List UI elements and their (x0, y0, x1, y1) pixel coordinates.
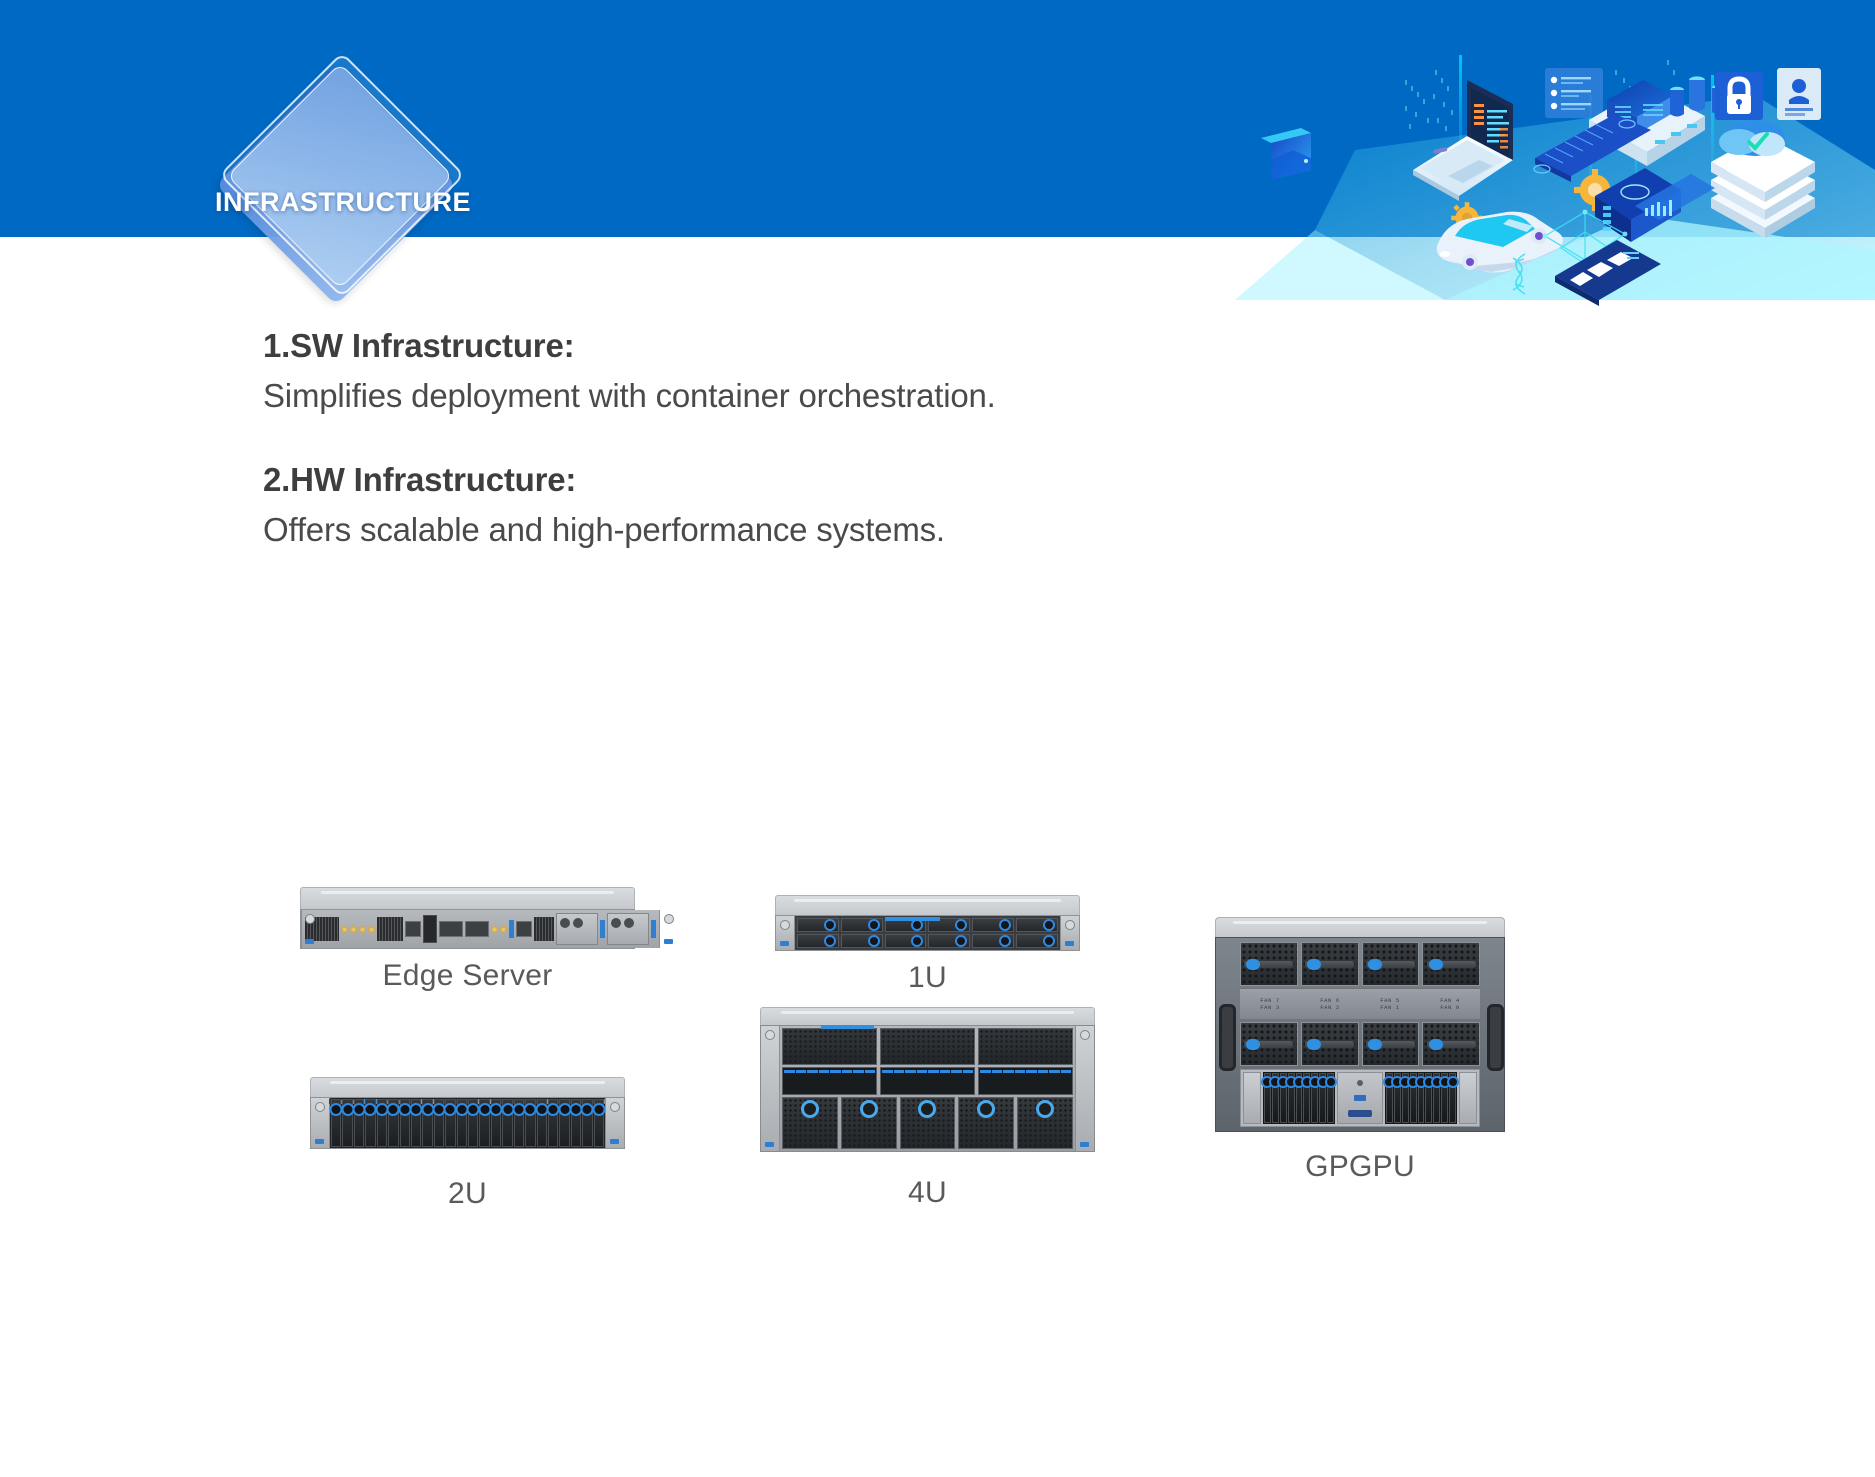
fan-vane (1305, 1041, 1354, 1048)
fan-vane (1366, 961, 1415, 968)
handle-column-right (1484, 938, 1504, 1131)
airflow-mesh-panel (782, 1028, 877, 1065)
drive-latch-icon (1043, 919, 1055, 931)
rack-ear-right (1060, 916, 1079, 950)
io-module (423, 915, 437, 943)
rack-ear-right (1075, 1026, 1094, 1151)
caption-4u: 4U (760, 1176, 1095, 1210)
drive-bay[interactable] (514, 1099, 524, 1147)
gpu-card (992, 1070, 1003, 1073)
drive-bay[interactable] (411, 1099, 421, 1147)
badge-label: INFRASTRUCTURE (160, 187, 526, 218)
gpu-card (928, 1070, 939, 1073)
power-led-icon (1357, 1080, 1363, 1086)
chassis-front-face (310, 1097, 625, 1149)
chassis-front-face (300, 909, 635, 949)
fan-module[interactable] (1362, 942, 1420, 986)
drive-bay[interactable] (342, 1099, 352, 1147)
drive-bay[interactable] (365, 1099, 375, 1147)
drive-latch-icon (1043, 935, 1055, 947)
chassis-handle[interactable] (1219, 1004, 1236, 1072)
drive-bay[interactable] (559, 1099, 569, 1147)
rack-ear-left (776, 916, 795, 950)
bar-chart-tablet (1555, 240, 1661, 306)
gpu-card (865, 1070, 876, 1073)
gpu-card (951, 1070, 962, 1073)
dna-helix (1513, 254, 1525, 294)
gpu-card (819, 1070, 830, 1073)
gpu-module[interactable] (978, 1067, 1073, 1095)
caption-gpgpu: GPGPU (1215, 1150, 1505, 1184)
conveyor-belt (1534, 114, 1651, 182)
fan-label: FAN 3 (1240, 1004, 1300, 1011)
fan-module[interactable] (1301, 942, 1359, 986)
fan-label: FAN 1 (1360, 1004, 1420, 1011)
gpu-card (963, 1070, 974, 1073)
drive-bay[interactable] (972, 918, 1014, 932)
nvme-bank-left (1263, 1072, 1335, 1124)
drive-bay[interactable] (445, 1099, 455, 1147)
drive-latch-icon (911, 935, 923, 947)
usb-port[interactable] (1354, 1095, 1366, 1101)
vent-grille (534, 917, 554, 941)
edge-server-chassis (300, 887, 635, 949)
mesh-panel-row (782, 1028, 1073, 1065)
gpu-card (1003, 1070, 1014, 1073)
gpu-card (894, 1070, 905, 1073)
fan-module-row (782, 1097, 1073, 1149)
gpu-card (1038, 1070, 1049, 1073)
bay-filler-right (1459, 1072, 1477, 1124)
drive-bay[interactable] (582, 1099, 592, 1147)
psu-latch[interactable] (600, 920, 605, 938)
light-beams (1459, 55, 1714, 215)
fan-vane (1427, 961, 1476, 968)
checklist-card (1545, 68, 1603, 118)
drive-bay[interactable] (457, 1099, 467, 1147)
antenna-connector (350, 926, 357, 933)
gpu-module[interactable] (782, 1067, 877, 1095)
drive-latch-icon (999, 935, 1011, 947)
gpu-module[interactable] (880, 1067, 975, 1095)
gpu-card (882, 1070, 893, 1073)
fan-label: FAN 5 (1360, 997, 1420, 1004)
network-graph (1543, 210, 1628, 267)
gpu-card (917, 1070, 928, 1073)
drive-latch-icon (868, 919, 880, 931)
fan-label: FAN 0 (1420, 1004, 1480, 1011)
vga-port[interactable] (1348, 1110, 1372, 1117)
drive-bay[interactable] (797, 934, 839, 948)
drive-latch-icon (955, 935, 967, 947)
airflow-mesh-panel (880, 1028, 975, 1065)
antenna-connector (359, 926, 366, 933)
u4-chassis (760, 1007, 1095, 1152)
drive-latch-icon (868, 935, 880, 947)
heading-sw-infrastructure: 1.SW Infrastructure: (263, 327, 1463, 365)
fan-module-row-top (1240, 942, 1480, 986)
drive-bay[interactable] (928, 934, 970, 948)
text-hw-infrastructure: Offers scalable and high-performance sys… (263, 511, 1463, 549)
fan-label: FAN 2 (1300, 1004, 1360, 1011)
server-gallery: Edge Server (0, 877, 1875, 1477)
caption-2u: 2U (310, 1177, 625, 1211)
rack-ear-left (761, 1026, 780, 1151)
accent-stripe (821, 1025, 874, 1029)
drive-bay[interactable] (491, 1099, 501, 1147)
drive-bay-array (330, 1098, 605, 1148)
u2-chassis (310, 1077, 625, 1149)
heading-hw-infrastructure: 2.HW Infrastructure: (263, 461, 1463, 499)
drive-bay[interactable] (388, 1099, 398, 1147)
drive-bay[interactable] (972, 934, 1014, 948)
chassis-front-face (775, 915, 1080, 951)
fan-module[interactable] (958, 1097, 1014, 1149)
text-sw-infrastructure: Simplifies deployment with container orc… (263, 377, 1463, 415)
cloud-storage-stack (1711, 120, 1815, 238)
gpu-card (1061, 1070, 1072, 1073)
drive-bay-array (795, 916, 1060, 950)
fan-module[interactable] (1017, 1097, 1073, 1149)
fan-module[interactable] (900, 1097, 956, 1149)
drive-latch-icon (824, 935, 836, 947)
gpgpu-chassis: FAN 7 FAN 6 FAN 5 FAN 4 FAN 3 FAN 2 FAN … (1215, 917, 1505, 1132)
rj45-port (405, 921, 421, 937)
id-badge-icon (1777, 68, 1821, 120)
module-stack (780, 1026, 1075, 1151)
fan-label: FAN 6 (1300, 997, 1360, 1004)
binary-data-texture (1405, 60, 1675, 133)
front-control-panel[interactable] (1337, 1072, 1383, 1124)
drive-bay[interactable] (594, 1099, 604, 1147)
nvme-bay[interactable] (1327, 1073, 1334, 1123)
drive-bay[interactable] (354, 1099, 364, 1147)
drive-bay[interactable] (841, 918, 883, 932)
gpu-card (905, 1070, 916, 1073)
fan-vane (1427, 1041, 1476, 1048)
sfp-cage (465, 921, 489, 937)
drive-bay[interactable] (571, 1099, 581, 1147)
header-illustration (1115, 0, 1875, 300)
fan-vane (1244, 1041, 1293, 1048)
server-card-1u[interactable]: 1U (775, 895, 1080, 995)
gpu-card (796, 1070, 807, 1073)
fan-vane (1305, 961, 1354, 968)
drive-bay[interactable] (797, 918, 839, 932)
fan-module[interactable] (1422, 942, 1480, 986)
drive-bay[interactable] (400, 1099, 410, 1147)
paragraph-sw-infrastructure: 1.SW Infrastructure: Simplifies deployme… (263, 327, 1463, 415)
fan-label: FAN 4 (1420, 997, 1480, 1004)
bay-filler-left (1243, 1072, 1261, 1124)
fan-module-row-bottom (1240, 1022, 1480, 1066)
drive-bay[interactable] (885, 934, 927, 948)
rack-ear-right (605, 1098, 624, 1148)
module-stack: FAN 7 FAN 6 FAN 5 FAN 4 FAN 3 FAN 2 FAN … (1236, 938, 1484, 1131)
gpu-card (842, 1070, 853, 1073)
padlock-icon (1715, 72, 1763, 120)
page-header: INFRASTRUCTURE (0, 0, 1875, 237)
gpu-card (853, 1070, 864, 1073)
drive-bay[interactable] (434, 1099, 444, 1147)
chassis-handle[interactable] (1487, 1004, 1504, 1072)
factory-building (1589, 76, 1726, 166)
fan-module[interactable] (1240, 1022, 1298, 1066)
chassis-front-face: FAN 7 FAN 6 FAN 5 FAN 4 FAN 3 FAN 2 FAN … (1215, 937, 1505, 1132)
badge-inner-diamond (227, 63, 453, 289)
fan-vane (1244, 961, 1293, 968)
fan-labels-top-row: FAN 7 FAN 6 FAN 5 FAN 4 (1240, 997, 1480, 1004)
airflow-mesh-panel (978, 1028, 1073, 1065)
fan-module[interactable] (841, 1097, 897, 1149)
nvme-bay[interactable] (1449, 1073, 1456, 1123)
drive-bay[interactable] (1016, 934, 1058, 948)
fan-module[interactable] (1301, 1022, 1359, 1066)
drive-bay[interactable] (502, 1099, 512, 1147)
smartphone-dashboard (1595, 168, 1715, 242)
server-card-edge-server[interactable]: Edge Server (300, 887, 635, 993)
paragraph-hw-infrastructure: 2.HW Infrastructure: Offers scalable and… (263, 461, 1463, 549)
fan-label: FAN 7 (1240, 997, 1300, 1004)
drive-bay[interactable] (422, 1099, 432, 1147)
drive-bay[interactable] (377, 1099, 387, 1147)
gpu-card (940, 1070, 951, 1073)
drive-bay[interactable] (468, 1099, 478, 1147)
drive-bay[interactable] (841, 934, 883, 948)
antenna-connector (341, 926, 348, 933)
folder-icon (1261, 128, 1311, 180)
infrastructure-text-block: 1.SW Infrastructure: Simplifies deployme… (263, 327, 1463, 549)
drive-bay[interactable] (537, 1099, 547, 1147)
accent-stripe (885, 917, 940, 921)
vent-grille (377, 917, 403, 941)
handle-column-left (1216, 938, 1236, 1131)
gpu-card (784, 1070, 795, 1073)
drive-latch-icon (955, 919, 967, 931)
laptop-with-code (1413, 80, 1513, 201)
nvme-bank-right (1385, 1072, 1457, 1124)
fan-vane (1366, 1041, 1415, 1048)
gpu-module-row (782, 1067, 1073, 1095)
sfp-cage (439, 921, 463, 937)
antenna-connector (491, 926, 498, 933)
antenna-connector (500, 926, 507, 933)
power-supply-unit[interactable] (607, 913, 649, 945)
gpu-card (830, 1070, 841, 1073)
caption-edge-server: Edge Server (300, 959, 635, 993)
fan-label-band: FAN 7 FAN 6 FAN 5 FAN 4 FAN 3 FAN 2 FAN … (1240, 988, 1480, 1020)
gpu-card (980, 1070, 991, 1073)
edge-io-panel (302, 910, 659, 948)
drive-bay[interactable] (331, 1099, 341, 1147)
fan-module[interactable] (1422, 1022, 1480, 1066)
gpu-card (1015, 1070, 1026, 1073)
gear-icon (1451, 169, 1616, 234)
gpu-card (807, 1070, 818, 1073)
rj45-port (516, 921, 532, 937)
nvme-bay-array (1240, 1069, 1480, 1127)
drive-latch-icon (999, 919, 1011, 931)
car-icon (1437, 212, 1563, 273)
power-supply-unit[interactable] (556, 913, 598, 945)
u1-chassis (775, 895, 1080, 951)
drive-bay[interactable] (1016, 918, 1058, 932)
fan-module[interactable] (1362, 1022, 1420, 1066)
iso-ground-plate (1235, 95, 1875, 300)
gpu-card (1049, 1070, 1060, 1073)
fan-module[interactable] (1240, 942, 1298, 986)
drive-bay[interactable] (525, 1099, 535, 1147)
rack-ear-right (659, 910, 660, 948)
rack-ear-left (311, 1098, 330, 1148)
server-card-4u[interactable]: 4U (760, 1007, 1095, 1210)
drive-bay-row (797, 934, 1058, 948)
fan-module[interactable] (782, 1097, 838, 1149)
drive-bay[interactable] (548, 1099, 558, 1147)
infrastructure-badge: INFRASTRUCTURE (172, 52, 512, 302)
psu-latch[interactable] (651, 920, 656, 938)
chassis-front-face (760, 1025, 1095, 1152)
drive-latch-icon (824, 919, 836, 931)
antenna-connector (368, 926, 375, 933)
drive-bay[interactable] (479, 1099, 489, 1147)
caption-1u: 1U (775, 961, 1080, 995)
server-card-gpgpu[interactable]: FAN 7 FAN 6 FAN 5 FAN 4 FAN 3 FAN 2 FAN … (1215, 917, 1505, 1184)
fan-labels-bottom-row: FAN 3 FAN 2 FAN 1 FAN 0 (1240, 1004, 1480, 1011)
server-card-2u[interactable]: 2U (310, 1077, 625, 1211)
gpu-card (1026, 1070, 1037, 1073)
status-indicator (509, 920, 514, 938)
rack-ear-left (301, 910, 302, 948)
